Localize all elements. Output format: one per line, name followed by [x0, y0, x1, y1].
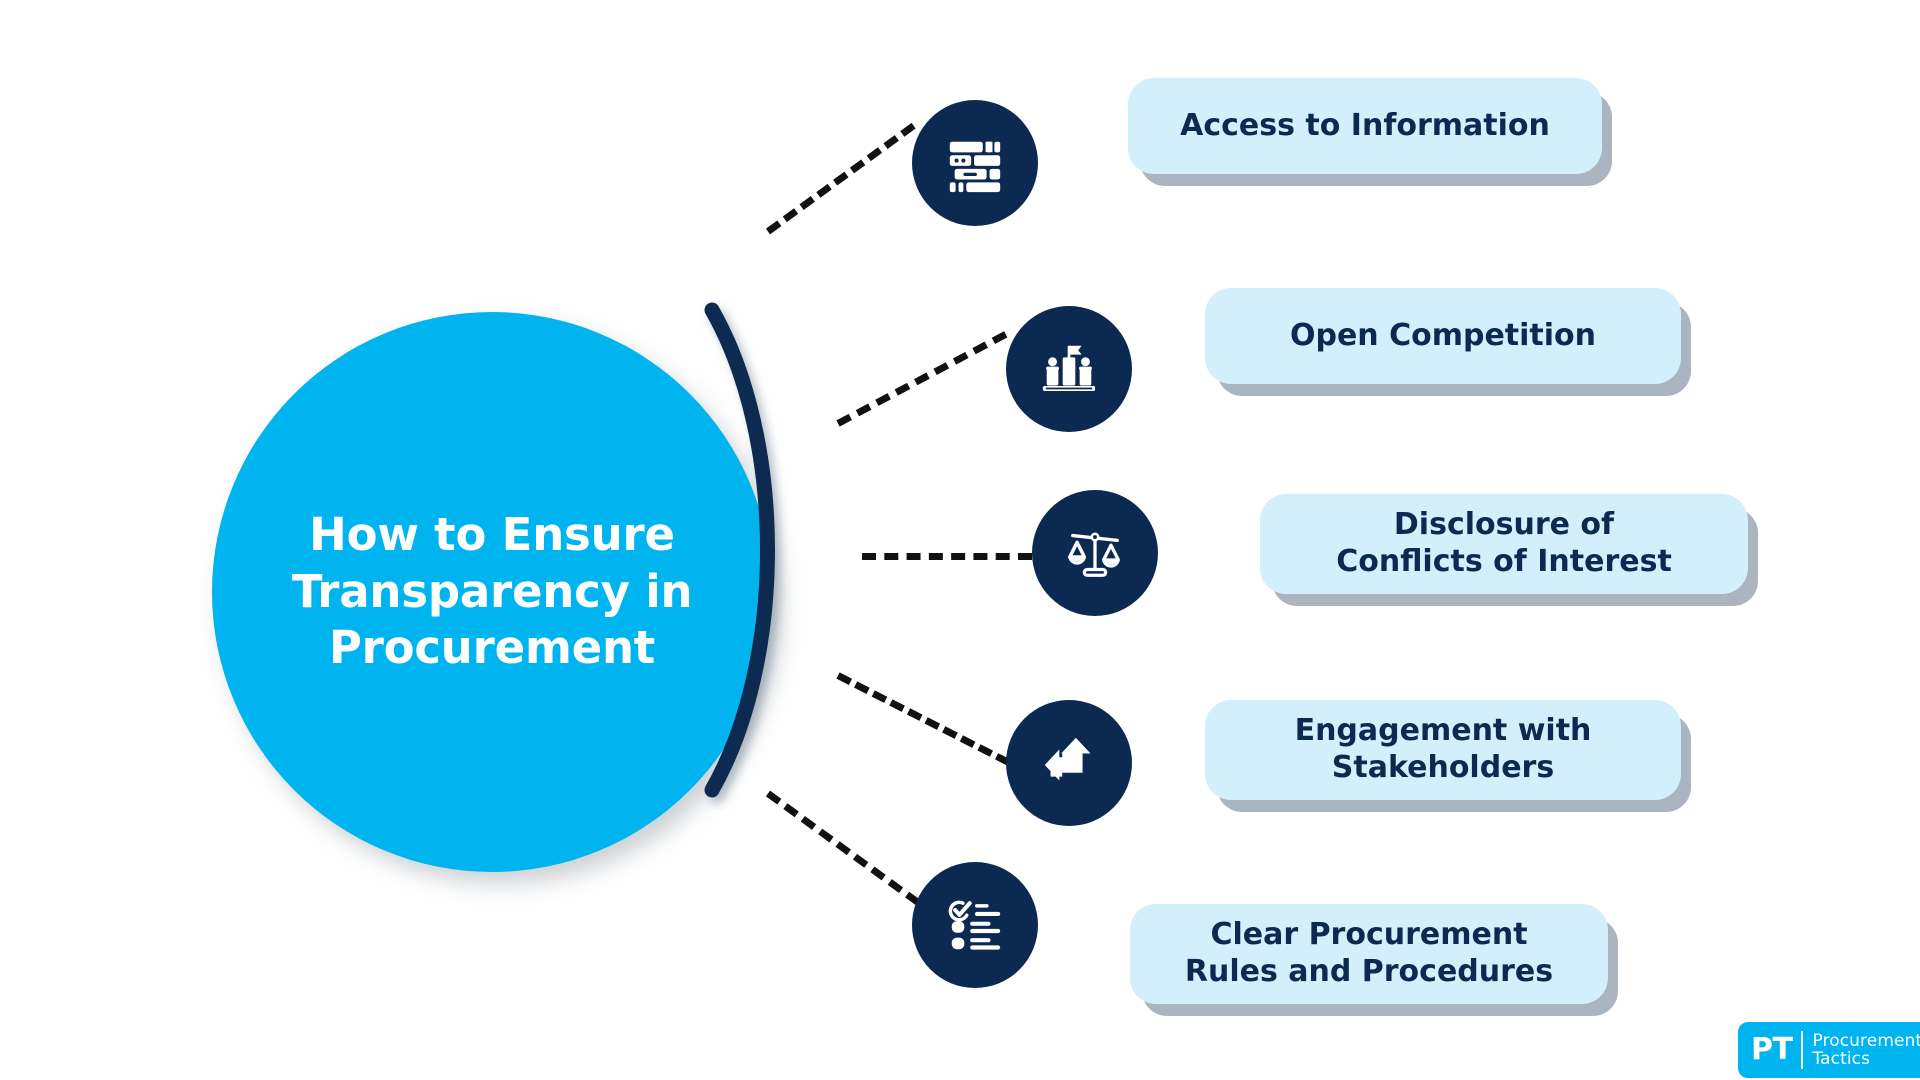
label-pill-open-competition[interactable]: Open Competition [1205, 288, 1681, 384]
connector-line-4 [836, 672, 1010, 765]
infographic-canvas: How to Ensure Transparency in Procuremen… [0, 0, 1920, 1080]
icon-circle-disclosure-conflicts[interactable] [1032, 490, 1158, 616]
connector-line-1 [766, 123, 916, 234]
page-title: How to Ensure Transparency in Procuremen… [258, 507, 727, 677]
central-hub-circle: How to Ensure Transparency in Procuremen… [212, 312, 772, 872]
logo-line-2: Tactics [1812, 1050, 1920, 1068]
connector-line-2 [836, 331, 1007, 426]
logo-divider [1801, 1031, 1803, 1069]
label-pill-engagement-stakeholders[interactable]: Engagement with Stakeholders [1205, 700, 1681, 800]
icon-circle-access-to-information[interactable] [912, 100, 1038, 226]
logo-line-1: Procurement [1812, 1032, 1920, 1050]
stacked-books-icon [944, 132, 1006, 194]
connector-line-3 [862, 553, 1032, 560]
logo-monogram: PT [1751, 1035, 1792, 1065]
label-text: Engagement with Stakeholders [1295, 713, 1592, 786]
icon-circle-engagement-stakeholders[interactable] [1006, 700, 1132, 826]
label-text: Clear Procurement Rules and Procedures [1185, 917, 1553, 990]
label-pill-access-to-information[interactable]: Access to Information [1128, 78, 1602, 174]
podium-competition-icon [1038, 338, 1100, 400]
balance-scale-icon [1064, 522, 1126, 584]
label-pill-disclosure-conflicts[interactable]: Disclosure of Conflicts of Interest [1260, 494, 1748, 594]
two-way-arrow-icon [1038, 732, 1100, 794]
label-text: Disclosure of Conflicts of Interest [1336, 507, 1672, 580]
connector-line-5 [766, 791, 921, 906]
brand-logo[interactable]: PT Procurement Tactics [1738, 1022, 1920, 1078]
label-pill-clear-rules[interactable]: Clear Procurement Rules and Procedures [1130, 904, 1608, 1004]
icon-circle-open-competition[interactable] [1006, 306, 1132, 432]
icon-circle-clear-rules[interactable] [912, 862, 1038, 988]
logo-wordmark: Procurement Tactics [1812, 1032, 1920, 1069]
label-text: Access to Information [1180, 108, 1550, 145]
checklist-icon [944, 894, 1006, 956]
label-text: Open Competition [1290, 318, 1596, 355]
